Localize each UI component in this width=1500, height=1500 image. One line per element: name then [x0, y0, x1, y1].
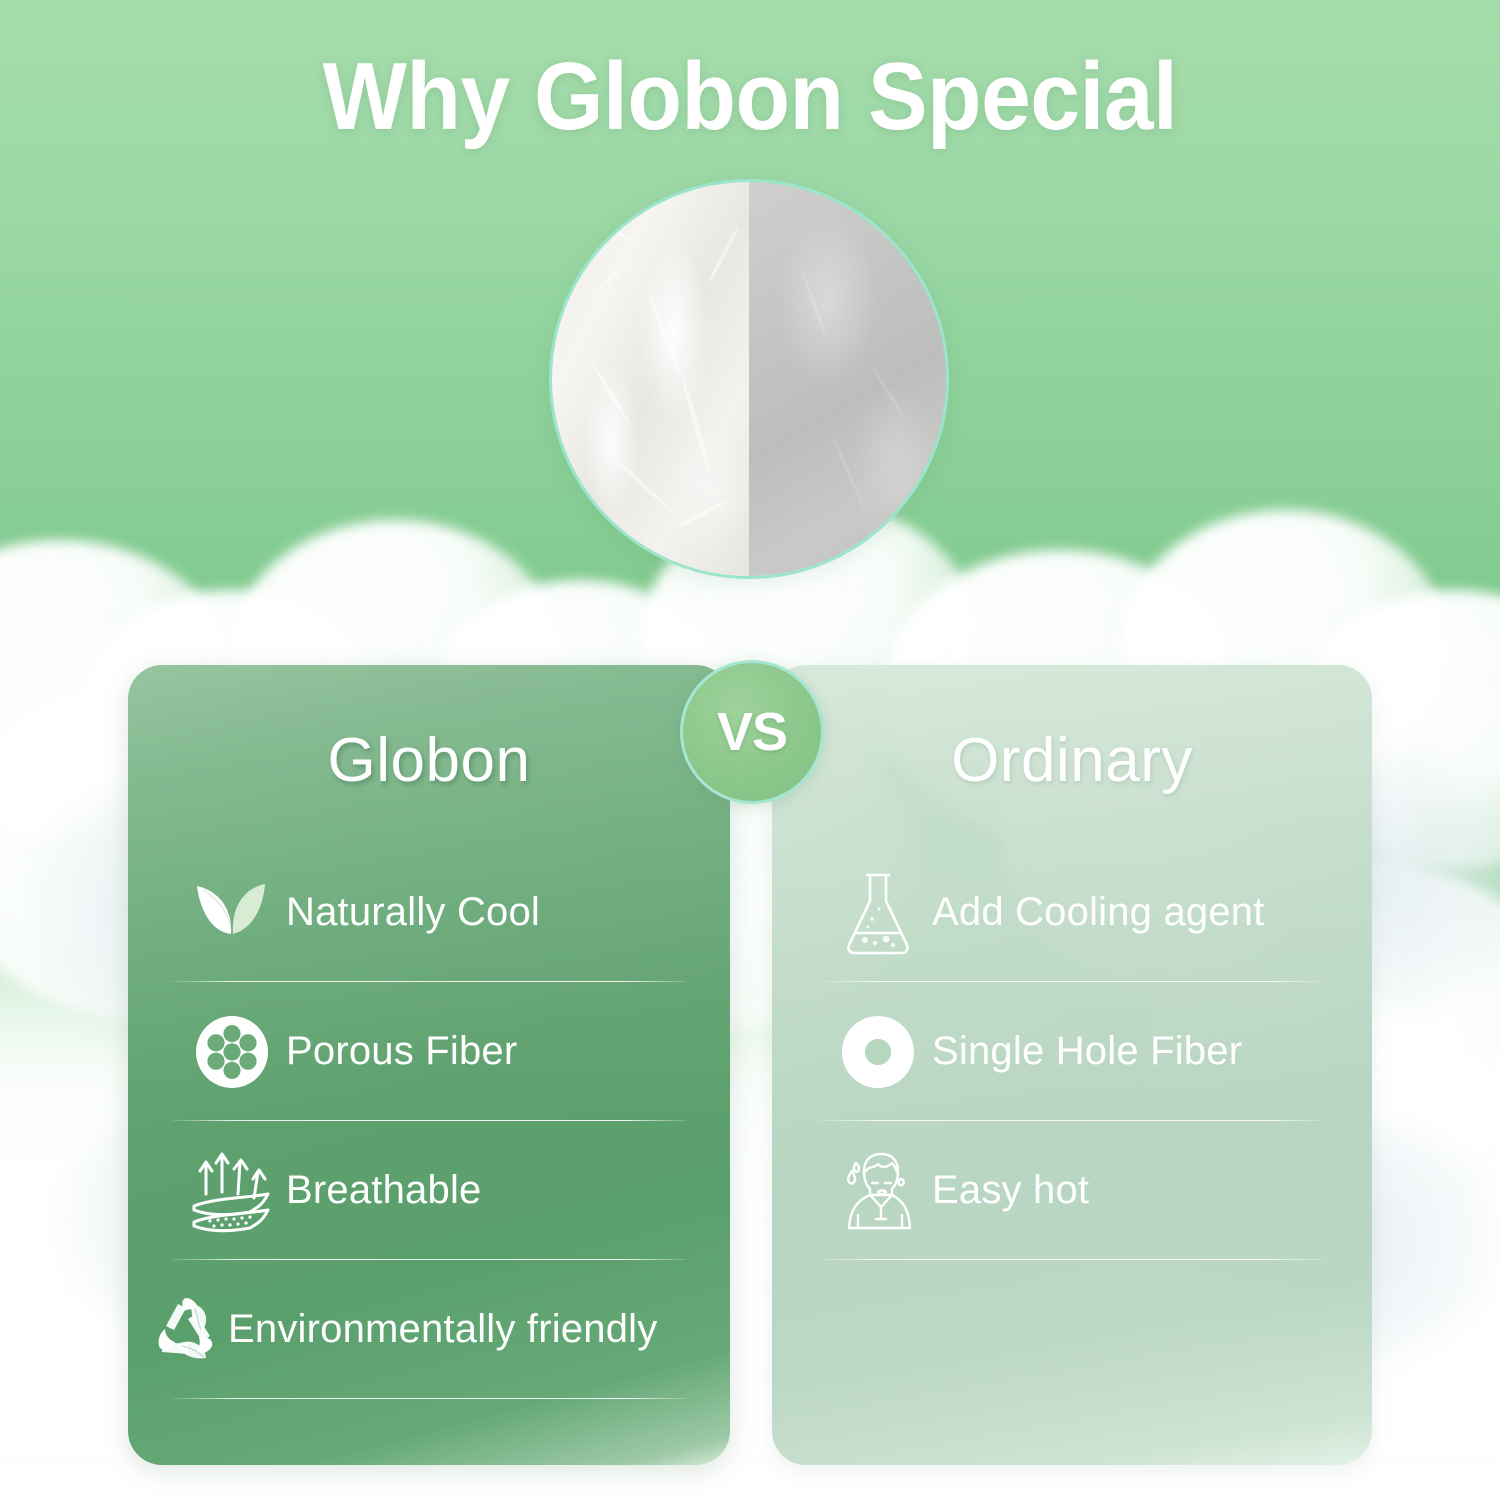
feature-label: Breathable — [286, 1168, 481, 1213]
vs-badge: VS — [680, 660, 824, 804]
recycle-leaf-icon — [146, 1292, 226, 1368]
porous-fiber-icon — [186, 1015, 278, 1089]
feature-label: Porous Fiber — [286, 1029, 517, 1074]
row-divider — [818, 1259, 1324, 1261]
single-hole-fiber-icon — [832, 1016, 924, 1088]
globon-card-heading: Globon — [128, 725, 730, 796]
feature-row[interactable]: Naturally Cool — [128, 843, 730, 982]
feature-row[interactable]: Easy hot — [772, 1121, 1372, 1260]
sweating-person-icon — [832, 1149, 924, 1233]
globon-feature-list: Naturally Cool — [128, 843, 730, 1399]
feature-label: Naturally Cool — [286, 890, 540, 935]
poster-root: Why Globon Special Globon — [0, 0, 1500, 1500]
feature-row[interactable]: Breathable — [128, 1121, 730, 1260]
ordinary-card: Ordinary — [772, 665, 1372, 1465]
row-divider — [172, 1398, 686, 1400]
globon-card: Globon Naturally Cool — [128, 665, 730, 1465]
leaf-icon — [186, 878, 278, 948]
feature-label: Environmentally friendly — [228, 1307, 657, 1352]
feature-row[interactable]: Add Cooling agent — [772, 843, 1372, 982]
feature-row[interactable]: Single Hole Fiber — [772, 982, 1372, 1121]
feature-row[interactable]: Porous Fiber — [128, 982, 730, 1121]
feature-label: Easy hot — [932, 1168, 1089, 1213]
comparison-section: Globon Naturally Cool — [0, 0, 1500, 1500]
feature-label: Add Cooling agent — [932, 890, 1265, 935]
breathable-fabric-icon — [186, 1148, 278, 1234]
flask-icon — [832, 869, 924, 957]
ordinary-card-heading: Ordinary — [772, 725, 1372, 796]
ordinary-feature-list: Add Cooling agent Single Hole Fiber — [772, 843, 1372, 1260]
vs-label: VS — [717, 701, 787, 763]
feature-label: Single Hole Fiber — [932, 1029, 1242, 1074]
feature-row[interactable]: Environmentally friendly — [128, 1260, 730, 1399]
